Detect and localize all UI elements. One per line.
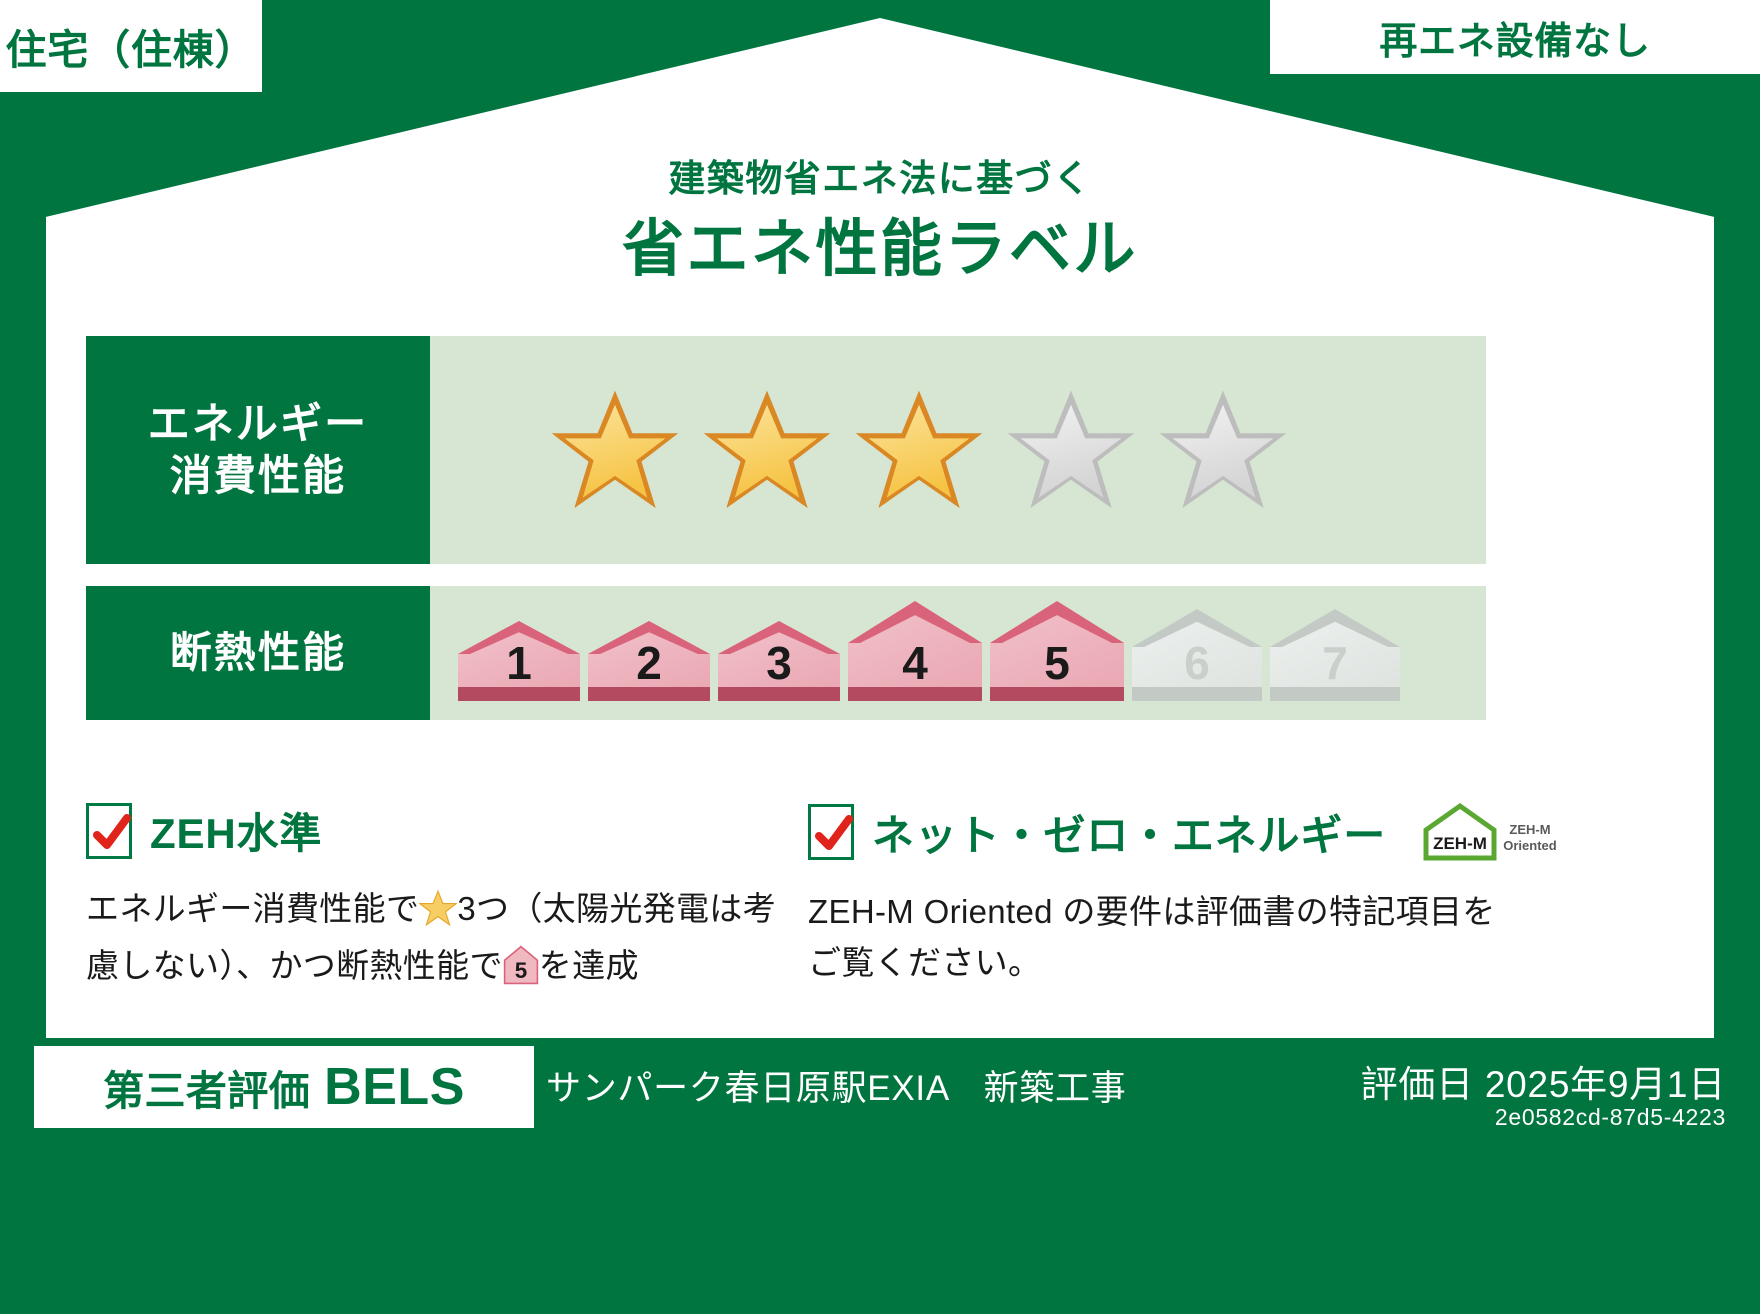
insulation-level-number: 5 xyxy=(1044,637,1070,689)
svg-text:ZEH-M: ZEH-M xyxy=(1510,822,1551,837)
energy-label-line2: 消費性能 xyxy=(170,450,346,503)
net-zero-energy-header: ネット・ゼロ・エネルギー ZEH-M ZEH-M Oriented xyxy=(808,800,1508,864)
bels-en-text: BELS xyxy=(324,1057,465,1117)
zeh-desc-part1: エネルギー消費性能で xyxy=(86,890,419,927)
insulation-label-text: 断熱性能 xyxy=(170,627,346,680)
building-type-tag: 住宅（住棟） xyxy=(0,0,262,92)
insulation-house-filled: 1 xyxy=(456,619,582,708)
net-zero-energy-description: ZEH-M Oriented の要件は評価書の特記項目をご覧ください。 xyxy=(808,886,1508,988)
insulation-level-scale: 1234567 xyxy=(430,599,1402,708)
zeh-standard-header: ZEH水準 xyxy=(86,800,786,861)
insulation-house-filled: 3 xyxy=(716,619,842,708)
svg-text:ZEH-M: ZEH-M xyxy=(1433,834,1487,853)
zeh-standard-title: ZEH水準 xyxy=(150,800,322,861)
insulation-performance-label: 断熱性能 xyxy=(86,586,430,720)
energy-performance-label: エネルギー 消費性能 xyxy=(86,336,430,564)
zeh-m-oriented-logo: ZEH-M ZEH-M Oriented xyxy=(1418,800,1568,864)
insulation-house-filled: 5 xyxy=(988,599,1126,708)
bels-energy-label: 住宅（住棟） 再エネ設備なし 建築物省エネ法に基づく 省エネ性能ラベル エネルギ… xyxy=(0,0,1760,1314)
net-zero-energy-title: ネット・ゼロ・エネルギー xyxy=(872,802,1386,863)
insulation-house-filled: 2 xyxy=(586,619,712,708)
svg-text:5: 5 xyxy=(515,958,528,983)
insulation-house-empty: 7 xyxy=(1268,607,1402,708)
insulation-level-number: 1 xyxy=(506,637,532,689)
net-zero-energy-section: ネット・ゼロ・エネルギー ZEH-M ZEH-M Oriented ZEH-M … xyxy=(808,800,1508,988)
evaluation-date: 評価日 2025年9月1日 xyxy=(1361,1054,1726,1108)
zeh-checkbox[interactable] xyxy=(86,803,132,859)
insulation-performance-value: 1234567 xyxy=(430,586,1486,720)
inline-star-icon xyxy=(419,889,457,940)
insulation-level-number: 3 xyxy=(766,637,792,689)
star-rating xyxy=(430,388,1288,512)
energy-label-line1: エネルギー xyxy=(148,398,369,451)
star-empty-icon xyxy=(1158,388,1288,512)
svg-text:Oriented: Oriented xyxy=(1503,838,1557,853)
bels-badge: 第三者評価 BELS xyxy=(34,1046,534,1128)
zeh-standard-section: ZEH水準 エネルギー消費性能で3つ（太陽光発電は考慮しない）、かつ断熱性能で5… xyxy=(86,800,786,999)
energy-performance-row: エネルギー 消費性能 xyxy=(86,336,1486,564)
inline-house-icon: 5 xyxy=(503,945,539,999)
insulation-performance-row: 断熱性能 1234567 xyxy=(86,586,1486,720)
zeh-standard-description: エネルギー消費性能で3つ（太陽光発電は考慮しない）、かつ断熱性能で5を達成 xyxy=(86,883,786,999)
insulation-level-number: 7 xyxy=(1322,637,1348,689)
insulation-house-filled: 4 xyxy=(846,599,984,708)
evaluation-id: 2e0582cd-87d5-4223 xyxy=(1495,1104,1726,1131)
net-zero-checkbox[interactable] xyxy=(808,804,854,860)
energy-performance-value xyxy=(430,336,1486,564)
label-footer: 第三者評価 BELS サンパーク春日原駅EXIA 新築工事 評価日 2025年9… xyxy=(0,1042,1760,1314)
star-filled-icon xyxy=(702,388,832,512)
bels-jp-text: 第三者評価 xyxy=(103,1057,310,1117)
insulation-level-number: 4 xyxy=(902,637,928,689)
label-subtitle: 建築物省エネ法に基づく xyxy=(0,148,1760,202)
label-title: 省エネ性能ラベル xyxy=(0,198,1760,288)
star-filled-icon xyxy=(854,388,984,512)
insulation-level-number: 2 xyxy=(636,637,662,689)
zeh-desc-part3: を達成 xyxy=(539,947,639,984)
check-icon xyxy=(92,812,132,856)
project-name: サンパーク春日原駅EXIA 新築工事 xyxy=(546,1060,1126,1111)
renewable-equipment-tag: 再エネ設備なし xyxy=(1270,0,1760,74)
insulation-level-number: 6 xyxy=(1184,637,1210,689)
star-filled-icon xyxy=(550,388,680,512)
insulation-house-empty: 6 xyxy=(1130,607,1264,708)
star-empty-icon xyxy=(1006,388,1136,512)
check-icon xyxy=(814,813,854,857)
